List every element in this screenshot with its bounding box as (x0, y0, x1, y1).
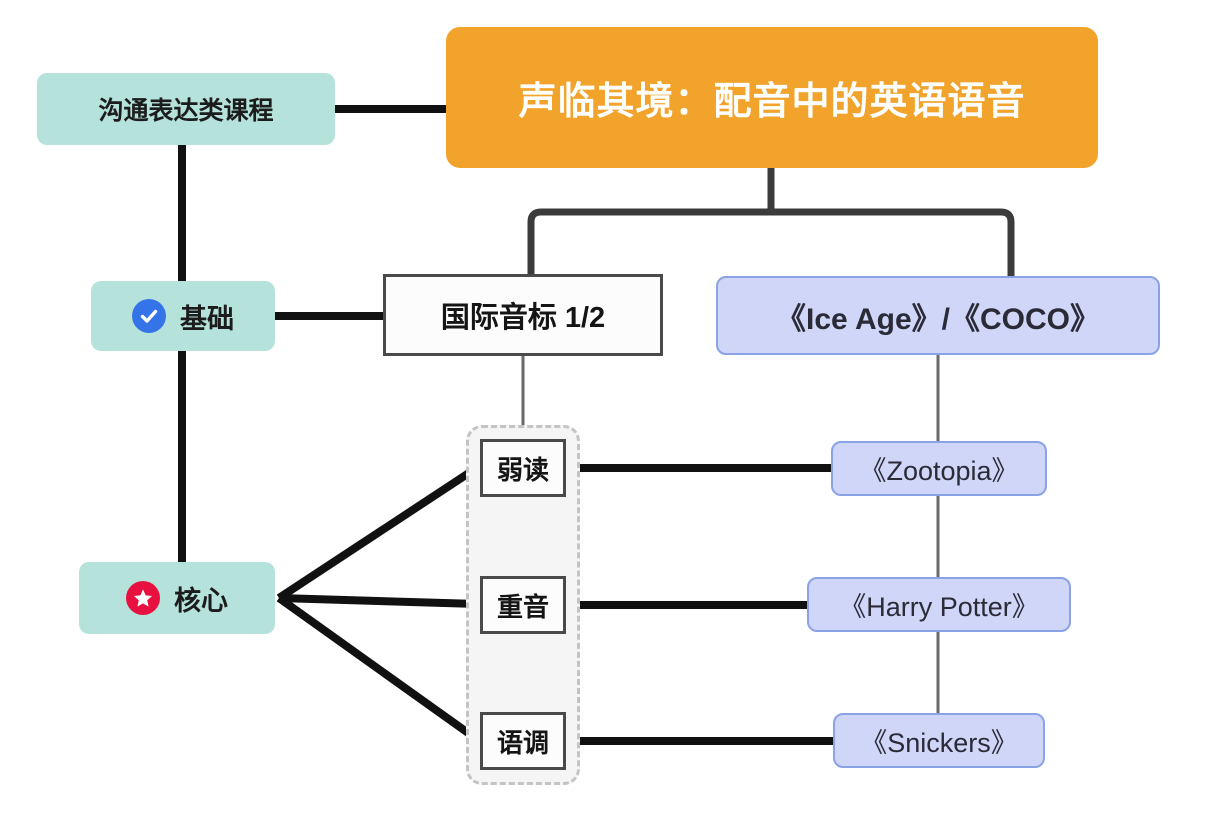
diagram-canvas: 声临其境：配音中的英语语音 沟通表达类课程 基础 核心 国际音标 1/2 弱读 … (0, 0, 1218, 840)
node-weak-reading[interactable]: 弱读 (480, 439, 566, 497)
node-harry-potter-label: 《Harry Potter》 (839, 585, 1039, 624)
connector-core-to-stress (279, 598, 478, 604)
node-snickers[interactable]: 《Snickers》 (833, 713, 1045, 768)
node-movies-label: 《Ice Age》/《COCO》 (776, 294, 1100, 338)
node-course-category[interactable]: 沟通表达类课程 (37, 73, 335, 145)
node-stress-label: 重音 (497, 587, 549, 624)
node-ipa[interactable]: 国际音标 1/2 (383, 274, 663, 356)
node-weak-reading-label: 弱读 (497, 450, 549, 487)
connector-core-to-tone (279, 598, 478, 740)
node-movies[interactable]: 《Ice Age》/《COCO》 (716, 276, 1160, 355)
node-harry-potter[interactable]: 《Harry Potter》 (807, 577, 1071, 632)
node-basic[interactable]: 基础 (91, 281, 275, 351)
star-circle-icon (126, 581, 160, 615)
connector-title-branch (531, 168, 1011, 278)
diagram-title-label: 声临其境：配音中的英语语音 (518, 70, 1025, 125)
node-snickers-label: 《Snickers》 (860, 721, 1018, 760)
node-intonation-label: 语调 (497, 723, 549, 760)
node-zootopia[interactable]: 《Zootopia》 (831, 441, 1047, 496)
node-course-category-label: 沟通表达类课程 (98, 91, 273, 127)
node-basic-label: 基础 (180, 297, 234, 336)
node-core[interactable]: 核心 (79, 562, 275, 634)
node-ipa-label: 国际音标 1/2 (441, 294, 605, 336)
diagram-title-node[interactable]: 声临其境：配音中的英语语音 (446, 27, 1098, 168)
node-intonation[interactable]: 语调 (480, 712, 566, 770)
connector-core-to-weak (279, 467, 478, 598)
check-circle-icon (132, 299, 166, 333)
node-core-label: 核心 (174, 579, 228, 618)
node-zootopia-label: 《Zootopia》 (859, 449, 1018, 488)
node-stress[interactable]: 重音 (480, 576, 566, 634)
